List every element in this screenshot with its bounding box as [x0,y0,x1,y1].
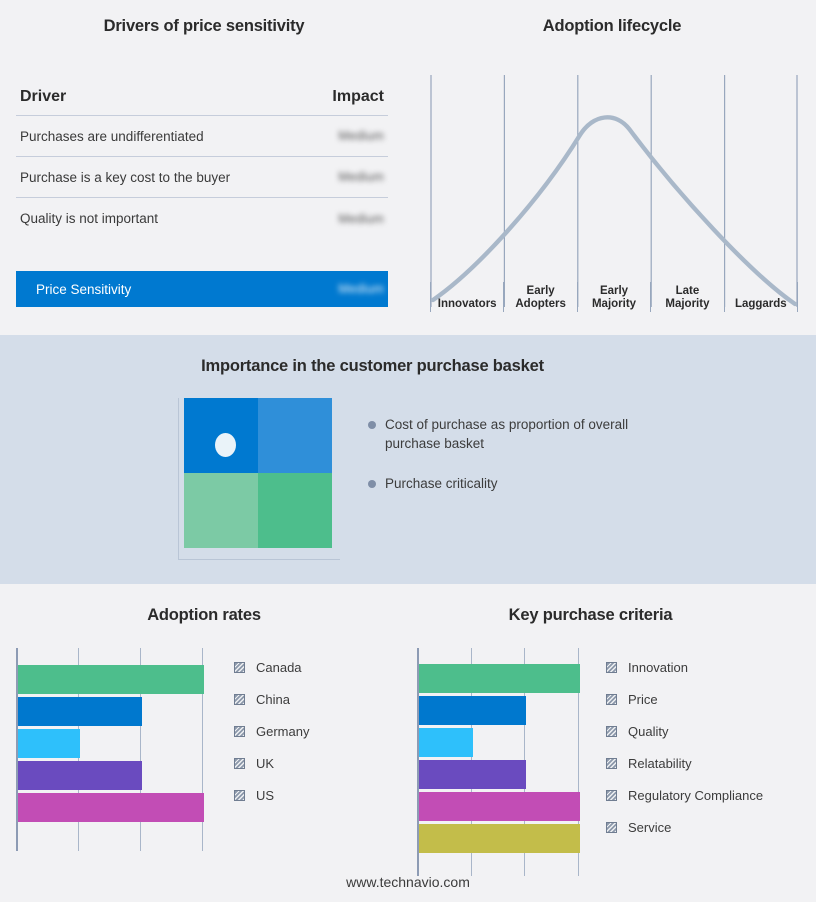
quadrant-bottom-right [258,473,332,548]
column-header-driver: Driver [20,88,296,106]
adoption-rates-legend: CanadaChinaGermanyUKUS [234,651,309,811]
criteria-bars-group [419,664,599,853]
lifecycle-stage-labels: Innovators EarlyAdopters EarlyMajority L… [430,282,798,312]
drivers-table-header: Driver Impact [16,88,388,116]
legend-label: Relatability [628,756,692,771]
bar [419,728,473,757]
hatched-swatch-icon [234,694,245,705]
hatched-swatch-icon [234,758,245,769]
adoption-rates-panel: Adoption rates CanadaChinaGermanyUKUS [0,585,408,902]
legend-label: US [256,788,274,803]
lifecycle-panel-title: Adoption lifecycle [408,17,816,36]
bar [18,729,80,758]
stage-label-line1: Late [676,285,700,298]
table-row: Purchase is a key cost to the buyer Medi… [16,157,388,198]
impact-value-redacted: Medium [338,282,384,296]
impact-cell: Medium [296,168,384,186]
summary-impact-cell: Medium [296,280,384,298]
quadrant-bottom-left [184,473,258,548]
bar [18,665,204,694]
column-header-impact: Impact [296,88,384,106]
lifecycle-stage-early-majority: EarlyMajority [577,282,650,312]
stage-label-line2: Majority [665,298,709,311]
quadrant-position-marker [215,433,236,457]
summary-row-label: Price Sensitivity [36,282,296,297]
bullet-dot-icon [368,421,376,429]
bar [419,792,580,821]
basket-legend-label: Purchase criticality [385,474,498,493]
bullet-dot-icon [368,480,376,488]
bar [18,761,142,790]
criteria-title: Key purchase criteria [408,606,773,625]
drivers-table: Driver Impact Purchases are undifferenti… [16,88,388,239]
price-sensitivity-summary-row: Price Sensitivity Medium [16,271,388,307]
legend-label: Quality [628,724,668,739]
lifecycle-svg [430,75,798,307]
legend-label: Regulatory Compliance [628,788,763,803]
list-item: Cost of purchase as proportion of overal… [368,415,668,453]
legend-item[interactable]: Innovation [606,651,763,683]
basket-legend: Cost of purchase as proportion of overal… [368,415,668,514]
stage-label: Innovators [438,298,497,311]
adoption-rates-bar-chart [16,648,226,851]
quadrant-top-right [258,398,332,473]
impact-value-redacted: Medium [338,170,384,184]
legend-label: Price [628,692,658,707]
hatched-swatch-icon [606,822,617,833]
stage-label-line2: Adopters [515,298,565,311]
hatched-swatch-icon [234,726,245,737]
stage-label: Laggards [735,298,787,311]
driver-name: Purchases are undifferentiated [20,129,296,144]
legend-item[interactable]: Canada [234,651,309,683]
legend-label: Canada [256,660,302,675]
table-row: Purchases are undifferentiated Medium [16,116,388,157]
hatched-swatch-icon [606,726,617,737]
bar [18,793,204,822]
lifecycle-stage-early-adopters: EarlyAdopters [503,282,576,312]
adoption-bell-curve [433,117,795,304]
legend-item[interactable]: US [234,779,309,811]
table-row: Quality is not important Medium [16,198,388,239]
hatched-swatch-icon [606,662,617,673]
legend-item[interactable]: Price [606,683,763,715]
criteria-plot-area [417,648,599,876]
quadrant-grid [184,398,332,548]
bar [419,664,580,693]
lifecycle-stage-laggards: Laggards [724,282,798,312]
adoption-lifecycle-panel: Adoption lifecycle Innovators EarlyAdopt… [408,0,816,334]
impact-cell: Medium [296,127,384,145]
driver-name: Purchase is a key cost to the buyer [20,170,296,185]
bar [419,696,526,725]
legend-label: UK [256,756,274,771]
adoption-plot-area [16,648,226,851]
legend-item[interactable]: China [234,683,309,715]
legend-label: Service [628,820,671,835]
list-item: Purchase criticality [368,474,668,493]
footer-url: www.technavio.com [0,874,816,890]
hatched-swatch-icon [606,790,617,801]
legend-item[interactable]: Quality [606,715,763,747]
drivers-panel-title: Drivers of price sensitivity [0,17,408,36]
criteria-bar-chart [417,648,599,876]
adoption-rates-title: Adoption rates [0,606,408,625]
legend-label: Innovation [628,660,688,675]
hatched-swatch-icon [606,758,617,769]
hatched-swatch-icon [606,694,617,705]
bar [419,760,526,789]
bar [419,824,580,853]
lifecycle-stage-innovators: Innovators [430,282,503,312]
stage-label-line2: Majority [592,298,636,311]
lifecycle-curve-plot [430,75,798,307]
drivers-of-price-sensitivity-panel: Drivers of price sensitivity Driver Impa… [0,0,408,334]
adoption-bars-group [18,665,226,822]
lifecycle-stage-late-majority: LateMajority [650,282,723,312]
hatched-swatch-icon [234,790,245,801]
legend-label: Germany [256,724,309,739]
legend-item[interactable]: Regulatory Compliance [606,779,763,811]
quadrant-chart [178,398,340,560]
key-purchase-criteria-panel: Key purchase criteria InnovationPriceQua… [408,585,816,902]
stage-label-line1: Early [600,285,628,298]
impact-cell: Medium [296,210,384,228]
hatched-swatch-icon [234,662,245,673]
legend-item[interactable]: UK [234,747,309,779]
legend-item[interactable]: Germany [234,715,309,747]
infographic-page: Drivers of price sensitivity Driver Impa… [0,0,816,902]
legend-label: China [256,692,290,707]
impact-value-redacted: Medium [338,212,384,226]
bar [18,697,142,726]
lifecycle-gridlines [431,75,797,307]
driver-name: Quality is not important [20,211,296,226]
legend-item[interactable]: Service [606,811,763,843]
criteria-legend: InnovationPriceQualityRelatabilityRegula… [606,651,763,843]
impact-value-redacted: Medium [338,129,384,143]
basket-panel-title: Importance in the customer purchase bask… [0,357,745,376]
legend-item[interactable]: Relatability [606,747,763,779]
stage-label-line1: Early [527,285,555,298]
basket-legend-label: Cost of purchase as proportion of overal… [385,415,668,453]
